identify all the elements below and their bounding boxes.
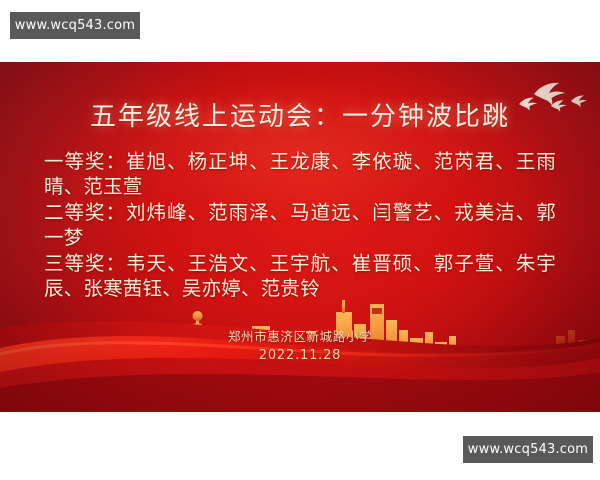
watermark-bottom: www.wcq543.com [463, 436, 593, 463]
watermark-top: www.wcq543.com [10, 12, 140, 39]
footer-school-name: 郑州市惠济区新城路小学 [0, 326, 600, 345]
award-line-second-prize: 二等奖：刘炜峰、范雨泽、马道远、闫警艺、戎美洁、郭一梦 [44, 201, 556, 251]
poster-footer: 郑州市惠济区新城路小学 2022.11.28 [0, 326, 600, 363]
watermark-bottom-text: www.wcq543.com [468, 442, 588, 457]
poster-banner: 五年级线上运动会：一分钟波比跳 一等奖：崔旭、杨正坤、王龙康、李依璇、范芮君、王… [0, 62, 600, 412]
award-line-third-prize: 三等奖：韦天、王浩文、王宇航、崔晋硕、郭子萱、朱宇辰、张寒茜钰、吴亦婷、范贵铃 [44, 252, 556, 302]
award-list: 一等奖：崔旭、杨正坤、王龙康、李依璇、范芮君、王雨晴、范玉萱 二等奖：刘炜峰、范… [44, 150, 556, 303]
footer-date: 2022.11.28 [0, 348, 600, 363]
poster-title: 五年级线上运动会：一分钟波比跳 [0, 96, 600, 133]
poster-content: 五年级线上运动会：一分钟波比跳 一等奖：崔旭、杨正坤、王龙康、李依璇、范芮君、王… [0, 62, 600, 412]
award-line-first-prize: 一等奖：崔旭、杨正坤、王龙康、李依璇、范芮君、王雨晴、范玉萱 [44, 150, 556, 200]
watermark-top-text: www.wcq543.com [15, 18, 135, 33]
